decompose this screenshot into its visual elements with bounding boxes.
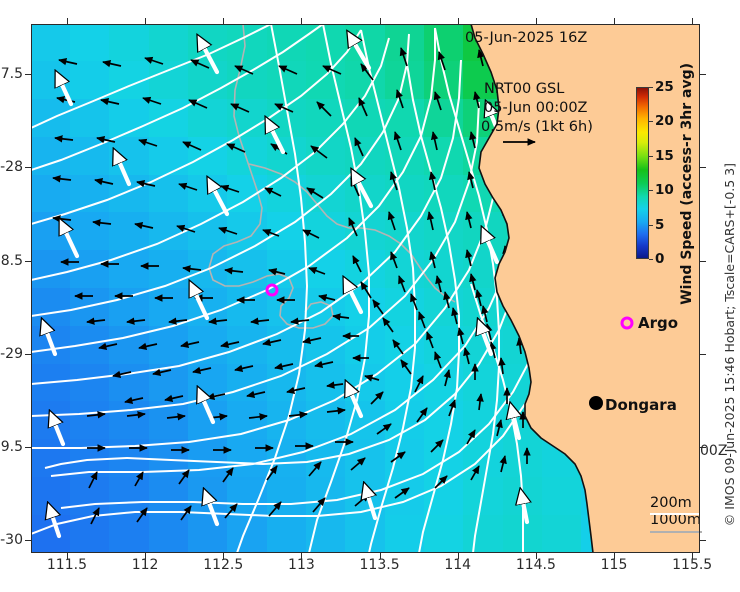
model-name-label: NRT00 GSL: [484, 81, 564, 97]
x-tick-label: 111.5: [37, 557, 97, 573]
colorbar-tick-label: 0: [655, 252, 664, 266]
colorbar-tick-label: 20: [655, 114, 674, 128]
y-tick: [700, 261, 706, 262]
x-tick-label: 114: [428, 557, 488, 573]
x-tick: [692, 553, 693, 559]
colorbar-tick: [649, 87, 653, 88]
x-tick: [223, 553, 224, 559]
x-tick: [301, 553, 302, 559]
y-tick-label: -30: [0, 532, 23, 548]
map-plot-area: 05-Jun-2025 16Z NRT00 GSL 05-Jun 00:00Z …: [31, 24, 700, 553]
x-tick-label: 112.5: [193, 557, 253, 573]
colorbar-tick: [649, 190, 653, 191]
x-tick: [458, 553, 459, 559]
x-tick: [380, 553, 381, 559]
x-tick-label: 114.5: [506, 557, 566, 573]
y-tick-label: 27.5: [0, 66, 23, 82]
y-tick: [700, 354, 706, 355]
depth-200m-swatch: [650, 513, 702, 515]
imos-credit: © IMOS 09-Jun-2025 15:46 Hobart; Tscale=…: [722, 163, 737, 526]
colorbar-title: Wind Speed (access-r 3hr avg): [679, 63, 695, 305]
plot-annotations: 05-Jun-2025 16Z NRT00 GSL 05-Jun 00:00Z …: [31, 24, 700, 553]
label-dongara: Dongara: [605, 396, 677, 414]
y-tick-label: 29.5: [0, 439, 23, 455]
x-tick-label: 115.5: [662, 557, 722, 573]
x-tick: [536, 553, 537, 559]
colorbar-tick-label: 25: [655, 80, 674, 94]
x-tick-label: 112: [115, 557, 175, 573]
model-init-label: 05-Jun 00:00Z: [484, 100, 587, 116]
clipped-edge-label: 00Z: [700, 443, 727, 459]
y-tick: [700, 447, 706, 448]
colorbar-tick-label: 5: [655, 218, 664, 232]
depth-200m-label: 200m: [650, 495, 701, 512]
x-tick-label: 113.5: [350, 557, 410, 573]
y-tick-label: 28.5: [0, 253, 23, 269]
colorbar-tick: [649, 156, 653, 157]
y-tick: [700, 540, 706, 541]
x-tick-label: 115: [584, 557, 644, 573]
y-tick: [700, 167, 706, 168]
y-tick-label: -28: [0, 159, 23, 175]
y-tick: [700, 74, 706, 75]
colorbar-tick-label: 15: [655, 149, 674, 163]
colorbar-tick-label: 10: [655, 183, 674, 197]
colorbar-tick: [649, 259, 653, 260]
x-tick: [614, 553, 615, 559]
x-tick: [67, 553, 68, 559]
colorbar-tick: [649, 225, 653, 226]
current-scale-label: 0.5m/s (1kt 6h): [481, 119, 593, 135]
depth-contour-legend: 200m 1000m: [650, 495, 701, 529]
y-tick-label: -29: [0, 346, 23, 362]
label-argo: Argo: [638, 314, 678, 332]
depth-1000m-swatch: [650, 531, 702, 533]
x-tick: [145, 553, 146, 559]
x-tick-label: 113: [271, 557, 331, 573]
colorbar-gradient: [636, 87, 649, 259]
current-scale-arrow: [31, 24, 700, 553]
valid-time-label: 05-Jun-2025 16Z: [465, 30, 587, 46]
colorbar-tick: [649, 121, 653, 122]
